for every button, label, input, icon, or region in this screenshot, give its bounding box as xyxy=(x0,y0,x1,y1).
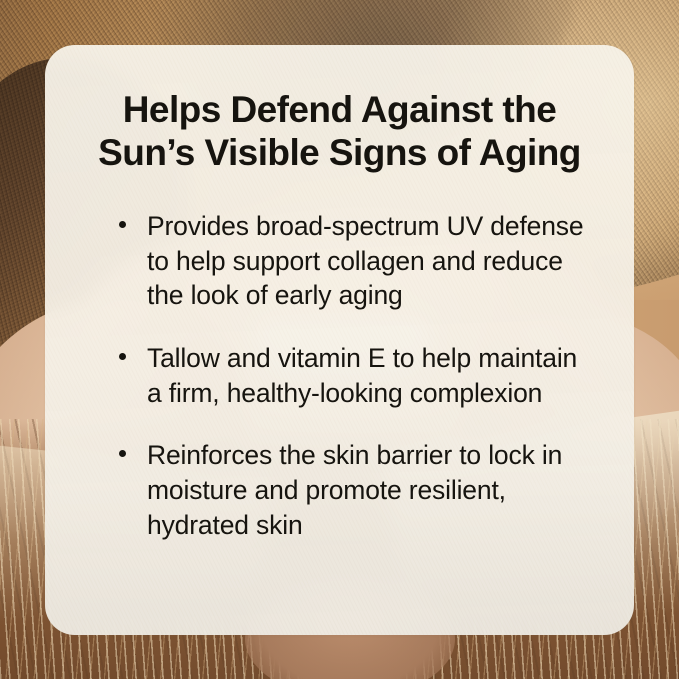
benefit-item-1: Provides broad-spectrum UV defense to he… xyxy=(119,209,598,313)
bullet-dot-icon xyxy=(119,450,126,457)
bullet-dot-icon xyxy=(119,221,126,228)
benefit-item-3: Reinforces the skin barrier to lock in m… xyxy=(119,438,598,542)
benefit-item-2-text: Tallow and vitamin E to help maintain a … xyxy=(147,343,577,408)
benefits-list: Provides broad-spectrum UV defense to he… xyxy=(81,209,598,543)
benefit-item-2: Tallow and vitamin E to help maintain a … xyxy=(119,341,598,410)
bullet-dot-icon xyxy=(119,353,126,360)
benefit-item-3-text: Reinforces the skin barrier to lock in m… xyxy=(147,440,562,539)
benefits-card: Helps Defend Against the Sun’s Visible S… xyxy=(45,45,634,635)
benefit-item-1-text: Provides broad-spectrum UV defense to he… xyxy=(147,211,583,310)
card-heading: Helps Defend Against the Sun’s Visible S… xyxy=(81,89,598,175)
infographic-stage: Helps Defend Against the Sun’s Visible S… xyxy=(0,0,679,679)
